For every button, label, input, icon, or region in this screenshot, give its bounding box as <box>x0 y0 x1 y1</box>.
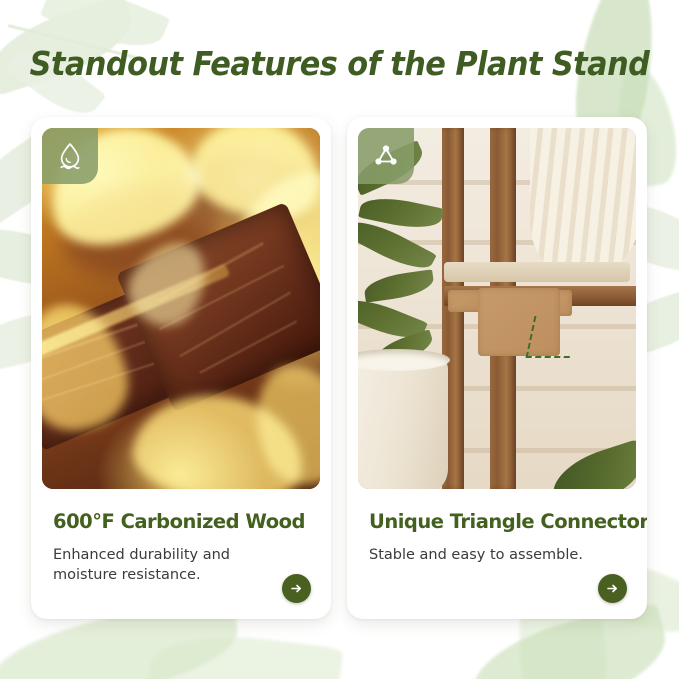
curtain <box>530 128 636 276</box>
card-image-triangle-connectors <box>358 128 636 489</box>
plant-leaf-corner <box>545 439 636 489</box>
dashed-triangle-annotation <box>526 316 579 358</box>
stand-shelf-slat <box>444 262 630 282</box>
card-description: Stable and easy to assemble. <box>369 546 584 566</box>
page-title: Standout Features of the Plant Stand <box>27 44 652 83</box>
arrow-right-icon <box>289 581 304 596</box>
card-image-carbonized-wood <box>42 128 320 489</box>
card-body-carbonized-wood: 600°F Carbonized Wood Enhanced durabilit… <box>31 489 331 619</box>
card-title: 600°F Carbonized Wood <box>53 511 309 533</box>
card-arrow-button[interactable] <box>598 574 627 603</box>
card-arrow-button[interactable] <box>282 574 311 603</box>
water-drop-icon <box>42 128 98 184</box>
feature-card-carbonized-wood[interactable]: 600°F Carbonized Wood Enhanced durabilit… <box>31 117 331 619</box>
card-description: Enhanced durability and moisture resista… <box>53 546 268 585</box>
card-title: Unique Triangle Connectors <box>369 511 625 533</box>
arrow-right-icon <box>605 581 620 596</box>
plant-pot <box>358 355 448 489</box>
feature-card-triangle-connectors[interactable]: Unique Triangle Connectors Stable and ea… <box>347 117 647 619</box>
triangle-connector-icon <box>358 128 414 184</box>
card-body-triangle-connectors: Unique Triangle Connectors Stable and ea… <box>347 489 647 619</box>
plant-leaf <box>363 269 436 303</box>
feature-card-list: 600°F Carbonized Wood Enhanced durabilit… <box>31 117 648 619</box>
leaf-decor-bottom-2 <box>147 626 344 679</box>
